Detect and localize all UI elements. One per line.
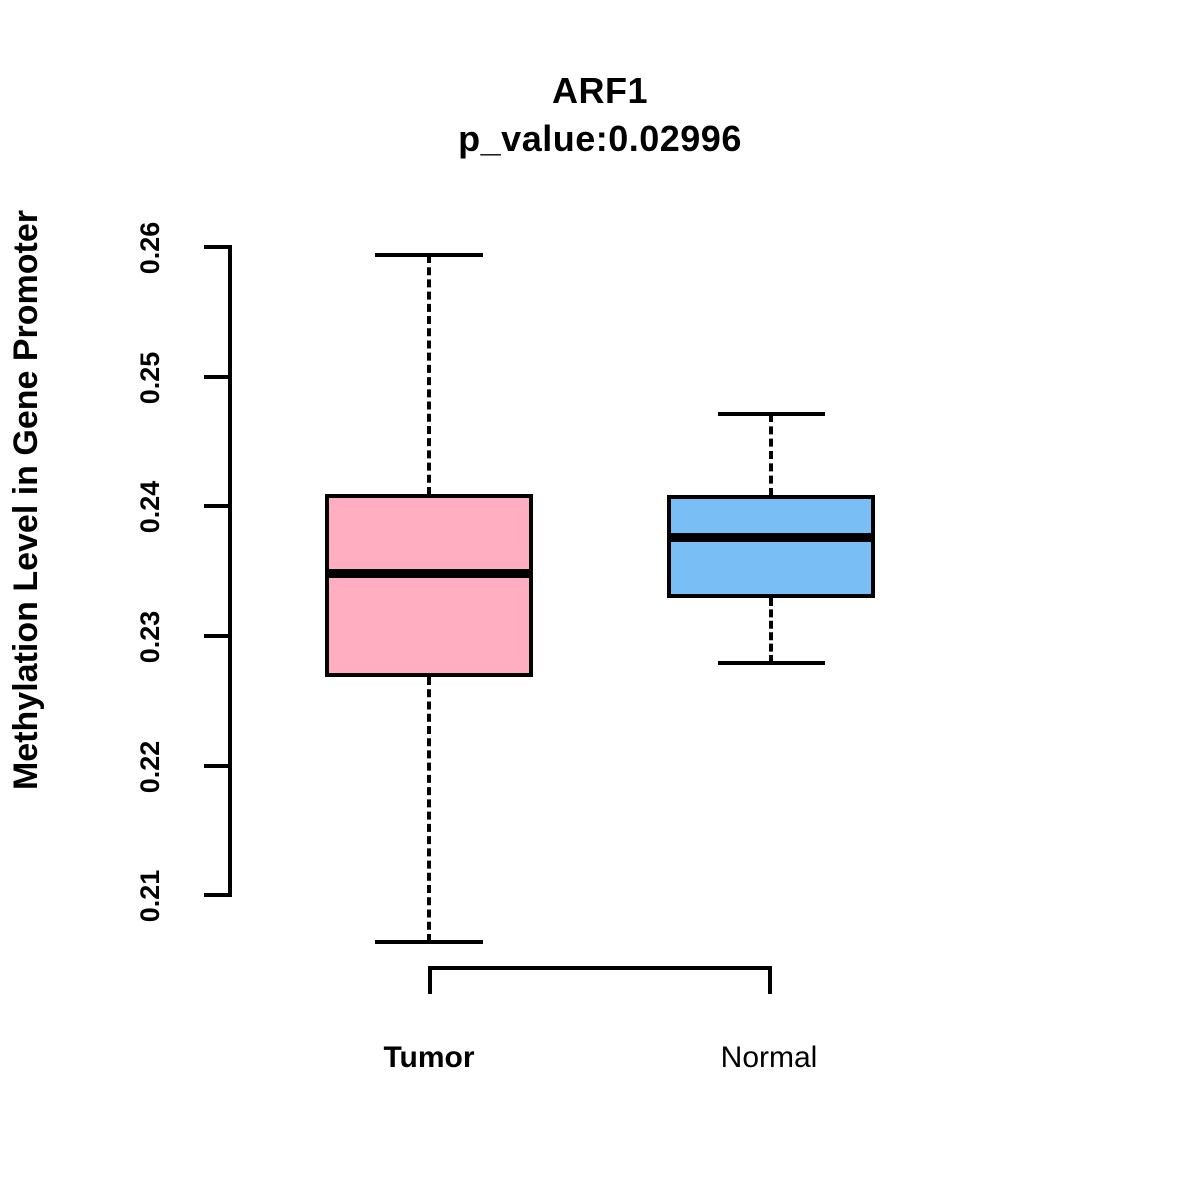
x-tick-label-normal: Normal <box>669 1041 869 1075</box>
y-axis-line <box>228 245 232 897</box>
normal-box <box>667 495 875 598</box>
tumor-upper-whisker <box>427 255 431 495</box>
y-tick-label-3: 0.23 <box>135 594 167 680</box>
normal-lower-whisker <box>769 598 773 663</box>
y-tick-0.22 <box>204 764 228 768</box>
y-tick-label-5: 0.21 <box>135 853 167 939</box>
y-tick-label-4: 0.22 <box>135 724 167 810</box>
y-axis-title: Methylation Level in Gene Promoter <box>0 0 52 1000</box>
y-tick-label-2: 0.24 <box>135 464 167 550</box>
y-tick-label-0: 0.26 <box>135 205 167 291</box>
y-tick-0.23 <box>204 634 228 638</box>
y-tick-label-1: 0.25 <box>135 335 167 421</box>
normal-lower-whisker-cap <box>718 661 825 665</box>
normal-median-line <box>667 533 875 542</box>
tumor-lower-whisker <box>427 677 431 942</box>
chart-subtitle-pvalue: p_value:0.02996 <box>0 118 1200 160</box>
tumor-box <box>325 494 533 677</box>
x-tick-tumor <box>428 966 432 994</box>
normal-upper-whisker <box>769 414 773 496</box>
tumor-median-line <box>325 569 533 578</box>
y-tick-0.21 <box>204 893 228 897</box>
x-tick-normal <box>768 966 772 994</box>
y-tick-0.25 <box>204 375 228 379</box>
y-tick-0.26 <box>204 245 228 249</box>
chart-canvas: ARF1 p_value:0.02996 Methylation Level i… <box>0 0 1200 1200</box>
x-axis-line <box>428 966 772 970</box>
tumor-lower-whisker-cap <box>375 940 483 944</box>
x-tick-label-tumor: Tumor <box>329 1041 529 1075</box>
y-tick-0.24 <box>204 504 228 508</box>
chart-title: ARF1 <box>0 70 1200 112</box>
